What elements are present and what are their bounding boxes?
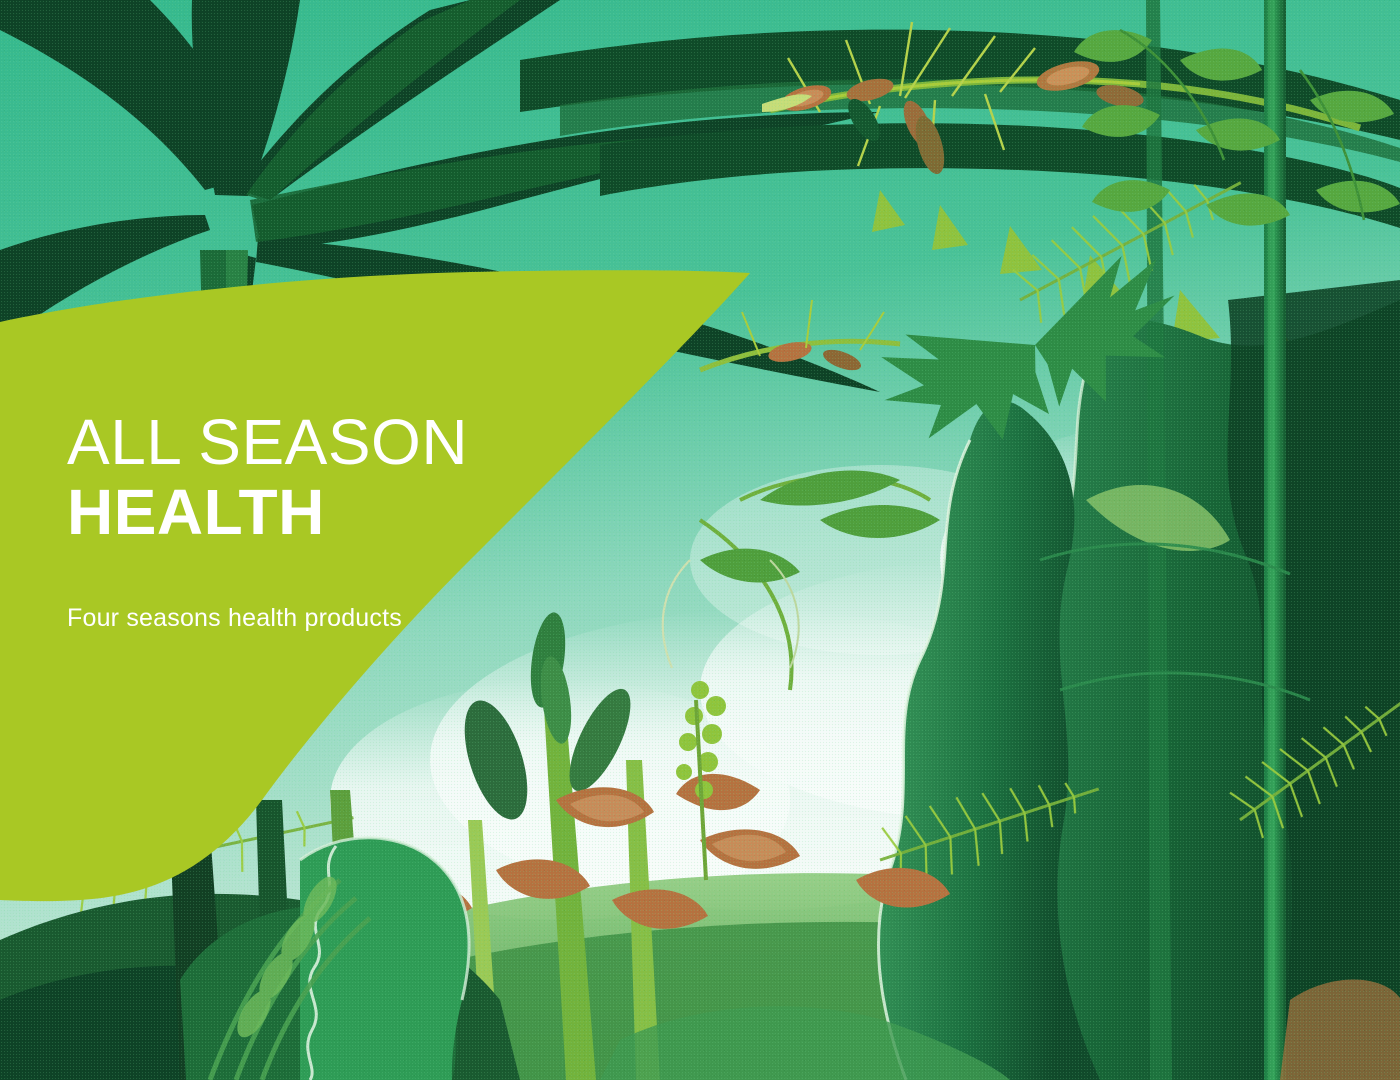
headline-block: ALL SEASON HEALTH Four seasons health pr… [67,408,587,634]
headline-line-1: ALL SEASON [67,408,587,476]
poster-canvas: ALL SEASON HEALTH Four seasons health pr… [0,0,1400,1080]
subtitle: Four seasons health products [67,602,587,634]
headline-line-2: HEALTH [67,476,587,548]
